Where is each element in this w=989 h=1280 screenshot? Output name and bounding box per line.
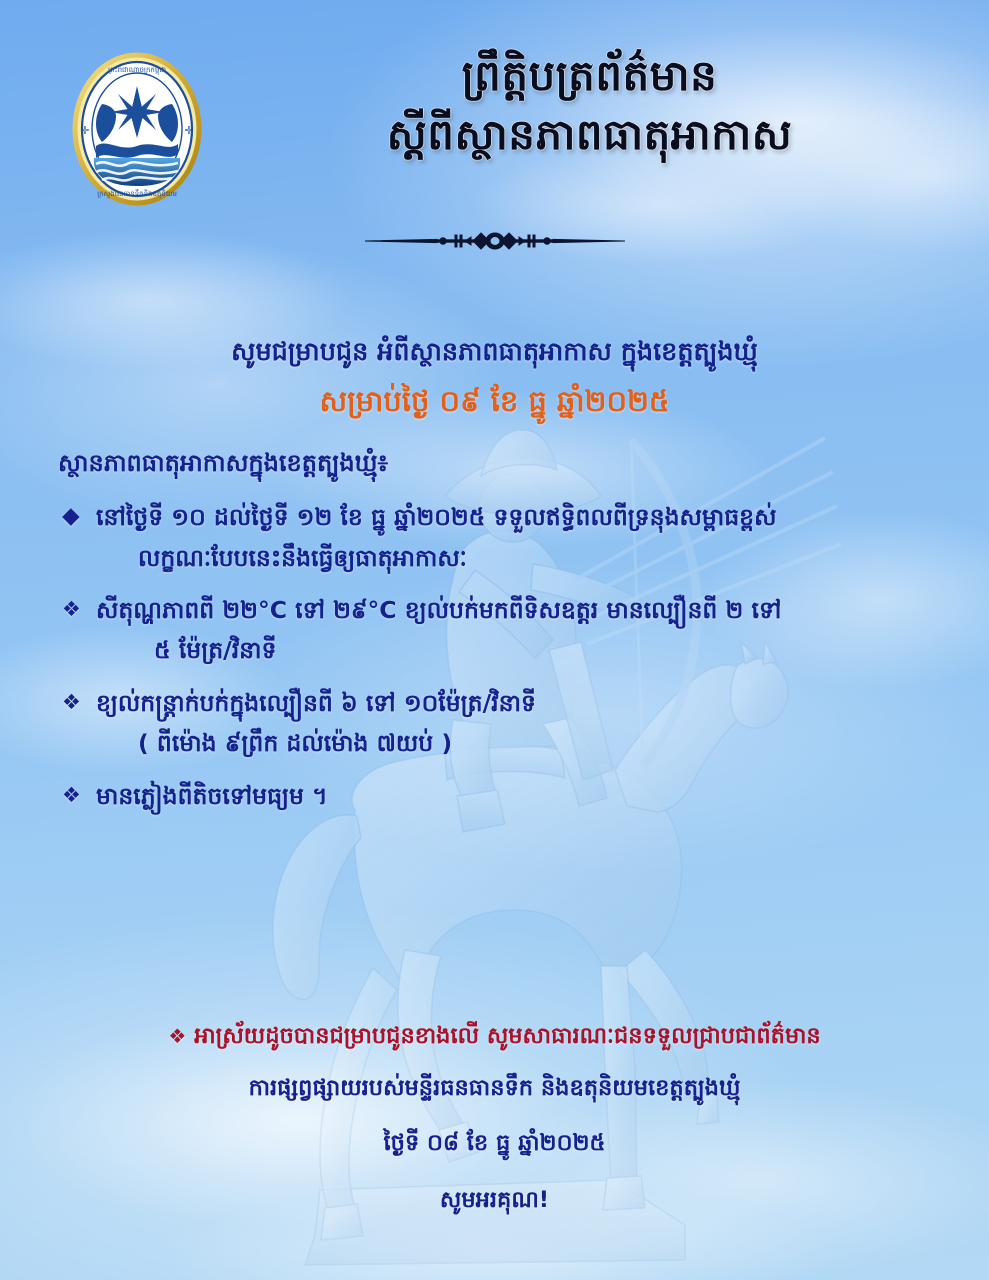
- forecast-section-heading: ស្ថានភាពធាតុអាកាសក្នុងខេត្តត្បូងឃ្មុំ៖: [0, 448, 989, 483]
- bullet-line-1: ខ្យល់កន្ត្រាក់បក់ក្នុងល្បឿនពី ៦ ទៅ ១០ម៉ែ…: [96, 683, 943, 723]
- bullet-line-2: ៥ ម៉ែត្រ/វិនាទី: [96, 630, 943, 670]
- list-item: ◆ នៅថ្ងៃទី ១០ ដល់ថ្ងៃទី ១២ ខែ ធ្នូ ឆ្នាំ…: [96, 497, 943, 578]
- diamond-cluster-bullet-icon: ❖: [62, 591, 81, 627]
- ornamental-divider-icon: [365, 228, 625, 254]
- diamond-solid-bullet-icon: ◆: [62, 497, 80, 537]
- poster-footer: ❖អាស្រ័យដូចបានជម្រាបជូនខាងលើ សូមសាធារណៈជ…: [0, 1020, 989, 1218]
- svg-text:ក្រសួងធនធានទឹកនិងឧតុនិយម: ក្រសួងធនធានទឹកនិងឧតុនិយម: [97, 189, 177, 199]
- footer-thanks: សូមអរគុណ!: [40, 1185, 949, 1218]
- page-title-line-1: ព្រឹត្តិបត្រព័ត៌មាន: [230, 52, 949, 99]
- ministry-emblem-icon: ព្រះរាជាណាចក្រកម្ពុជា ក្រសួងធនធានទឹកនិងឧ…: [58, 50, 216, 208]
- svg-text:✛: ✛: [80, 124, 89, 137]
- footer-issuer-line: ការផ្សព្វផ្សាយរបស់មន្ទីរធនធានទឹក និងឧតុន…: [40, 1072, 949, 1106]
- title-block: ព្រឹត្តិបត្រព័ត៌មាន ស្តីពីស្ថានភាពធាតុអា…: [230, 52, 949, 158]
- bullet-line-1: នៅថ្ងៃទី ១០ ដល់ថ្ងៃទី ១២ ខែ ធ្នូ ឆ្នាំ២០…: [96, 497, 943, 537]
- diamond-cluster-bullet-icon: ❖: [62, 777, 81, 813]
- list-item: ❖ សីតុណ្ហភាពពី ២២°C ទៅ ២៩°C ខ្យល់បក់មកពី…: [96, 590, 943, 671]
- footer-notice-text: អាស្រ័យដូចបានជម្រាបជូនខាងលើ សូមសាធារណៈជន…: [194, 1023, 820, 1049]
- footer-date: ថ្ងៃទី ០៨ ខែ ធ្នូ ឆ្នាំ២០២៥: [40, 1128, 949, 1161]
- weather-bulletin-poster: ព្រះរាជាណាចក្រកម្ពុជា ក្រសួងធនធានទឹកនិងឧ…: [0, 0, 989, 1280]
- diamond-cluster-bullet-icon: ❖: [168, 1024, 186, 1048]
- list-item: ❖ ខ្យល់កន្ត្រាក់បក់ក្នុងល្បឿនពី ៦ ទៅ ១០ម…: [96, 683, 943, 764]
- bulletin-content: សូមជម្រាបជូន អំពីស្ថានភាពធាតុអាកាស ក្នុង…: [0, 336, 989, 828]
- page-title-line-2: ស្តីពីស្ថានភាពធាតុអាកាស: [230, 111, 949, 158]
- list-item: ❖ មានភ្លៀងពីតិចទៅមធ្យម ។: [96, 776, 943, 816]
- footer-notice-line: ❖អាស្រ័យដូចបានជម្រាបជូនខាងលើ សូមសាធារណៈជ…: [40, 1020, 949, 1054]
- poster-header: ព្រះរាជាណាចក្រកម្ពុជា ក្រសួងធនធានទឹកនិងឧ…: [0, 28, 989, 218]
- bullet-line-2: ( ពីម៉ោង ៩ព្រឹក ដល់ម៉ោង ៧យប់ ): [96, 723, 943, 763]
- svg-text:✛: ✛: [184, 124, 193, 137]
- bullet-line-1: មានភ្លៀងពីតិចទៅមធ្យម ។: [96, 776, 943, 816]
- bullet-line-2: លក្ខណៈបែបនេះនឹងធ្វើឲ្យធាតុអាកាសៈ: [96, 538, 943, 578]
- diamond-cluster-bullet-icon: ❖: [62, 684, 81, 720]
- bulletin-dateline: សម្រាប់ថ្ងៃ ០៩ ខែ ធ្នូ ឆ្នាំ២០២៥: [0, 384, 989, 426]
- forecast-bullet-list: ◆ នៅថ្ងៃទី ១០ ដល់ថ្ងៃទី ១២ ខែ ធ្នូ ឆ្នាំ…: [0, 497, 989, 816]
- bullet-line-1: សីតុណ្ហភាពពី ២២°C ទៅ ២៩°C ខ្យល់បក់មកពីទិ…: [96, 590, 943, 630]
- bulletin-subheading: សូមជម្រាបជូន អំពីស្ថានភាពធាតុអាកាស ក្នុង…: [0, 336, 989, 369]
